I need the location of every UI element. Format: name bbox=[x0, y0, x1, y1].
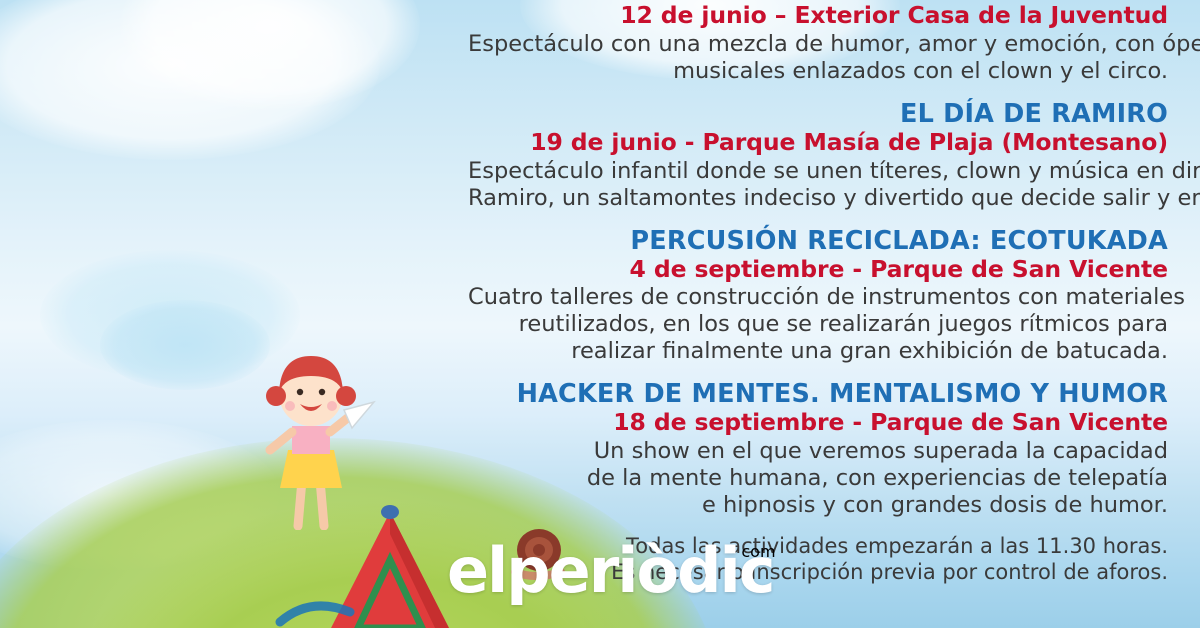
event-block: PERCUSIÓN RECICLADA: ECOTUKADA 4 de sept… bbox=[468, 226, 1168, 366]
event-description-line: e hipnosis y con grandes dosis de humor. bbox=[468, 492, 1168, 519]
event-description-line: reutilizados, en los que se realizarán j… bbox=[468, 311, 1168, 338]
poster-background: 12 de junio – Exterior Casa de la Juvent… bbox=[0, 0, 1200, 628]
event-list: 12 de junio – Exterior Casa de la Juvent… bbox=[468, 0, 1168, 586]
event-description-line: musicales enlazados con el clown y el ci… bbox=[468, 58, 1168, 85]
event-description: Cuatro talleres de construcción de instr… bbox=[468, 284, 1168, 365]
event-description: Espectáculo infantil donde se unen títer… bbox=[468, 158, 1168, 212]
event-block: HACKER DE MENTES. MENTALISMO Y HUMOR 18 … bbox=[468, 379, 1168, 519]
event-title: HACKER DE MENTES. MENTALISMO Y HUMOR bbox=[468, 379, 1168, 409]
event-description-line: de la mente humana, con experiencias de … bbox=[468, 465, 1168, 492]
event-description-line: Espectáculo con una mezcla de humor, amo… bbox=[468, 31, 1168, 58]
event-date: 18 de septiembre - Parque de San Vicente bbox=[468, 409, 1168, 437]
event-description: Espectáculo con una mezcla de humor, amo… bbox=[468, 31, 1168, 85]
event-description-line: Un show en el que veremos superada la ca… bbox=[468, 438, 1168, 465]
event-date: 4 de septiembre - Parque de San Vicente bbox=[468, 256, 1168, 284]
event-description-line: Cuatro talleres de construcción de instr… bbox=[468, 284, 1168, 311]
cloud-icon bbox=[0, 0, 380, 160]
watermark-name: elperiòdic bbox=[447, 534, 774, 607]
event-block-partial: 12 de junio – Exterior Casa de la Juvent… bbox=[468, 2, 1168, 85]
event-description-line: Ramiro, un saltamontes indeciso y divert… bbox=[468, 185, 1168, 212]
event-title: PERCUSIÓN RECICLADA: ECOTUKADA bbox=[468, 226, 1168, 256]
girl-character-icon bbox=[246, 330, 376, 530]
cloud-icon bbox=[120, 0, 420, 110]
event-title: EL DÍA DE RAMIRO bbox=[468, 99, 1168, 129]
event-description: Un show en el que veremos superada la ca… bbox=[468, 438, 1168, 519]
watermark-suffix: com bbox=[741, 542, 775, 561]
event-description-line: Espectáculo infantil donde se unen títer… bbox=[468, 158, 1168, 185]
event-description-line: realizar finalmente una gran exhibición … bbox=[468, 338, 1168, 365]
event-block: EL DÍA DE RAMIRO 19 de junio - Parque Ma… bbox=[468, 99, 1168, 212]
cloud-icon bbox=[100, 300, 270, 390]
watermark-logo: elperiòdic com bbox=[447, 534, 774, 607]
event-date: 19 de junio - Parque Masía de Plaja (Mon… bbox=[468, 129, 1168, 157]
event-date: 12 de junio – Exterior Casa de la Juvent… bbox=[468, 2, 1168, 30]
